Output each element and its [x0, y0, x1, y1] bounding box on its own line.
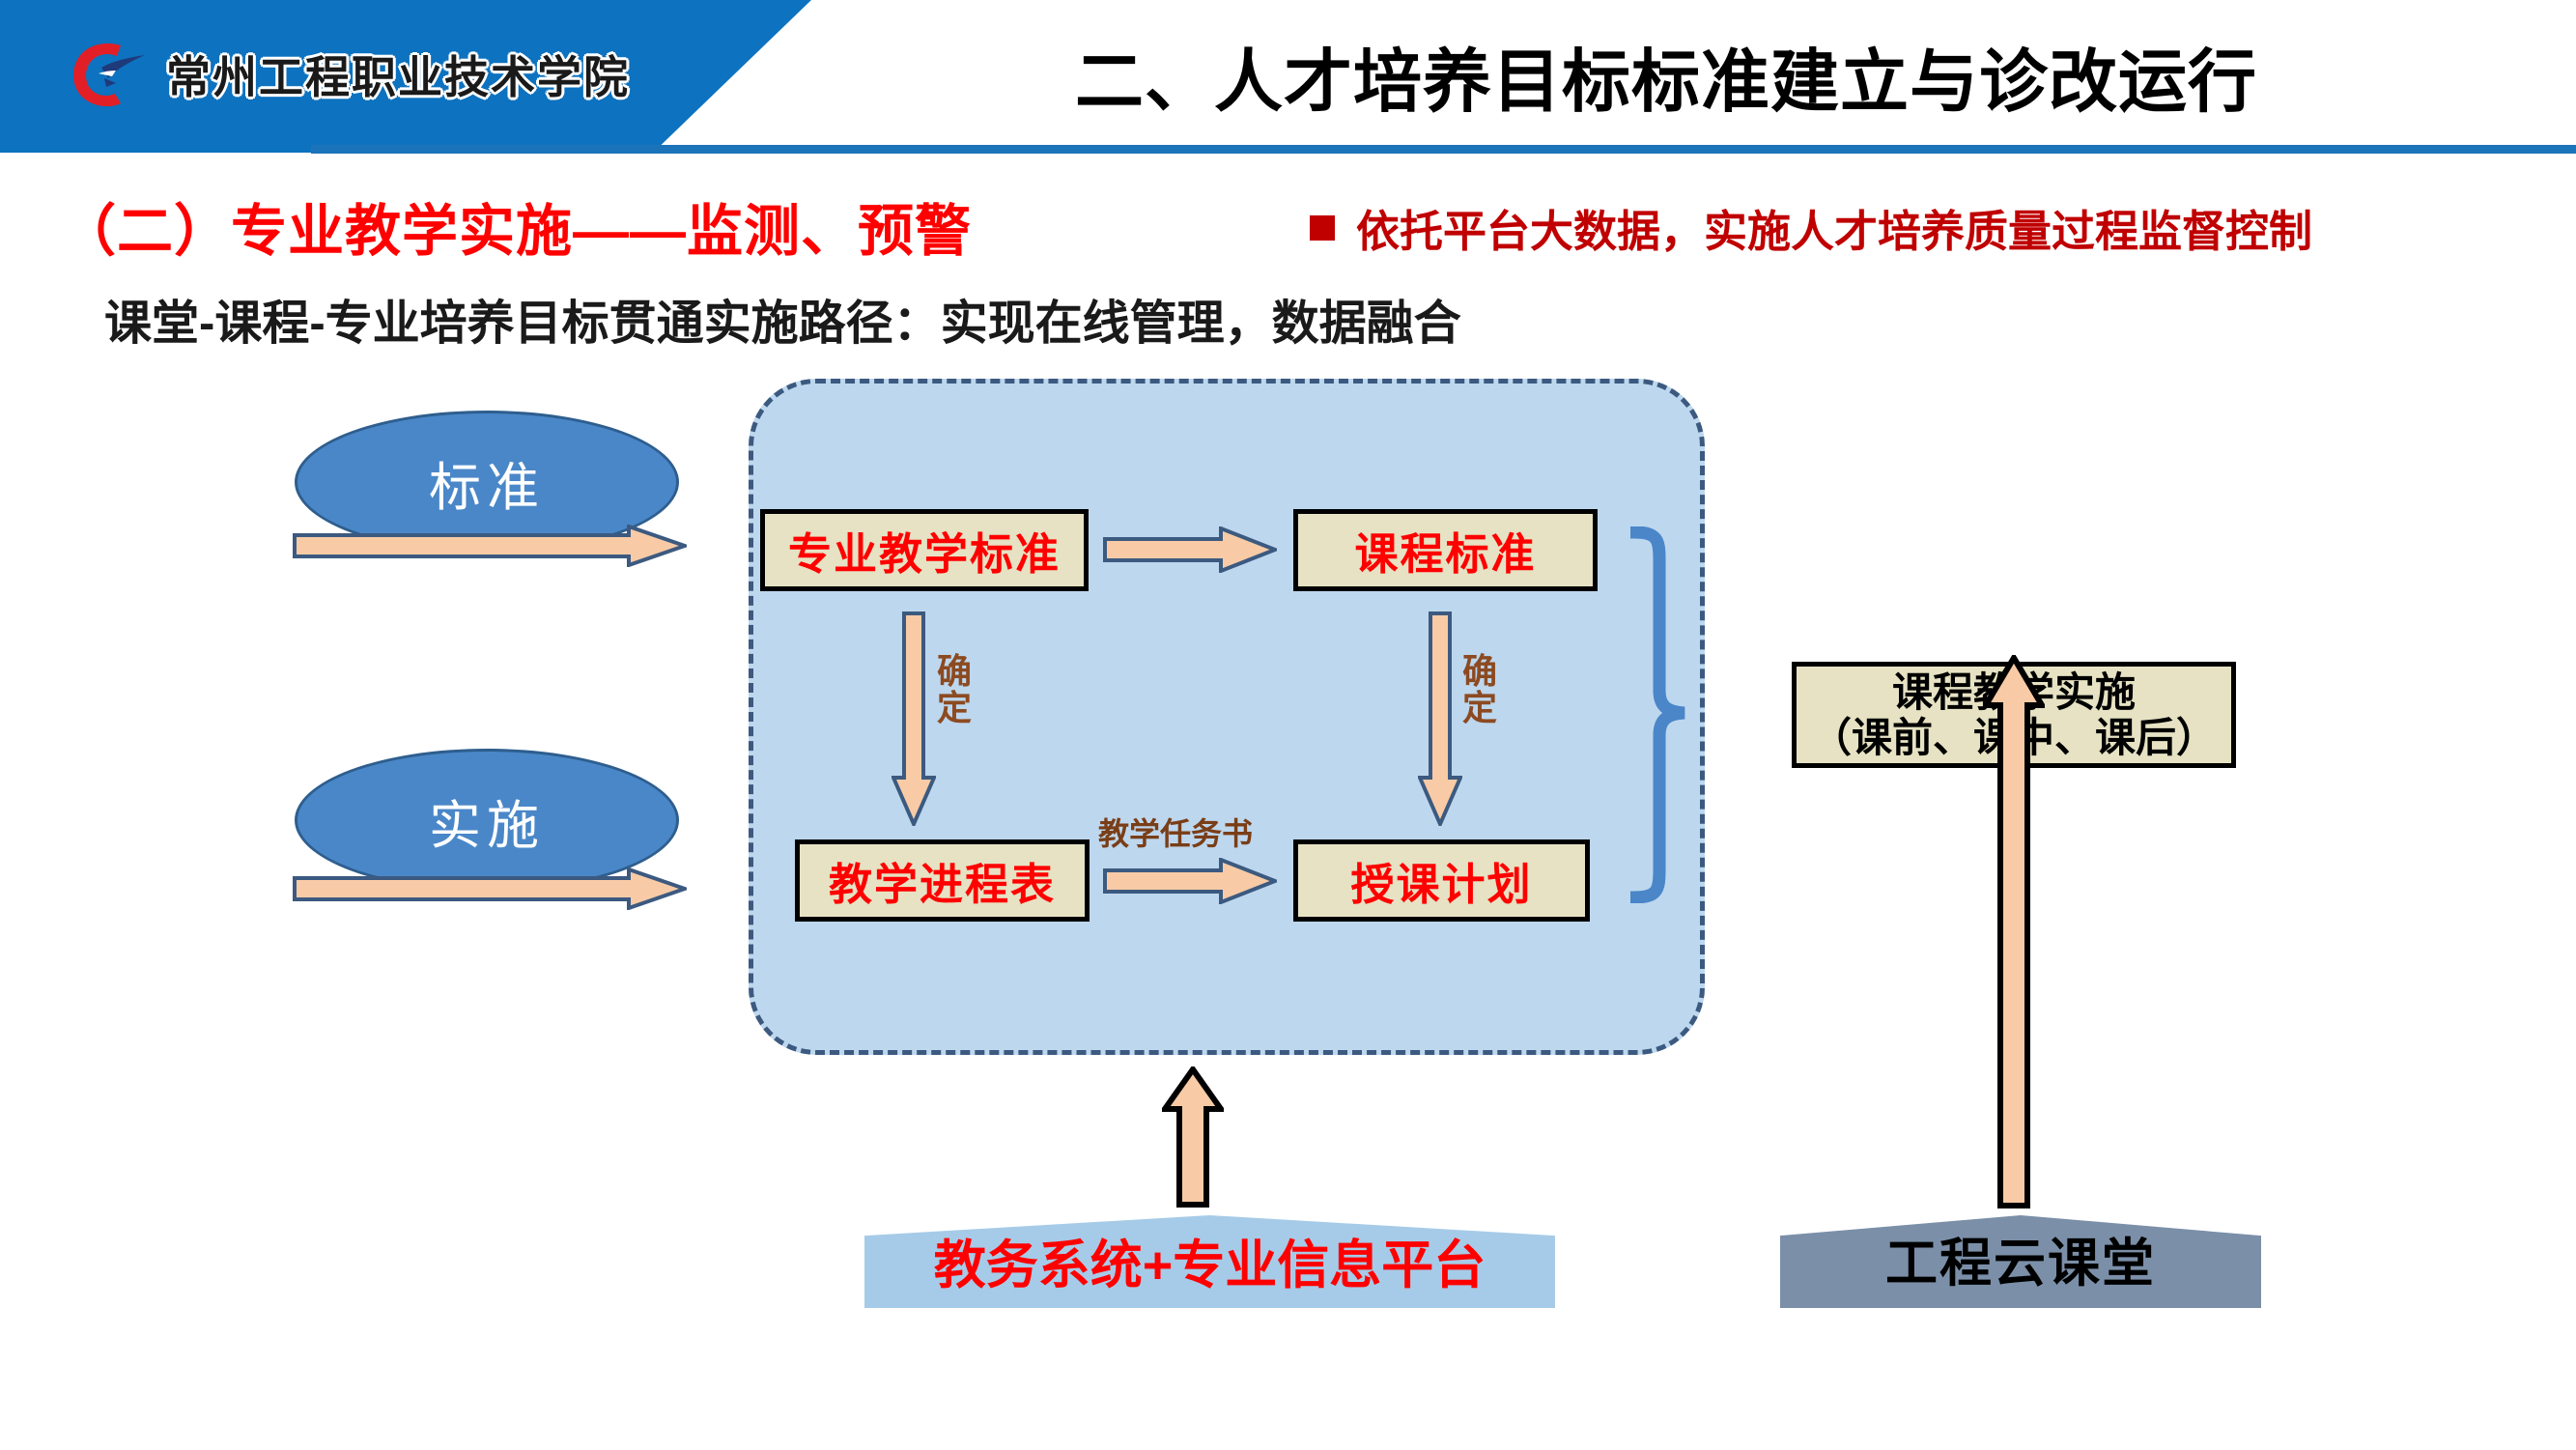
square-bullet-icon	[1310, 215, 1335, 241]
platform-banner-cloud-classroom: 工程云课堂	[1780, 1215, 2261, 1308]
platform-banner-cloud-classroom-label: 工程云课堂	[1885, 1220, 2156, 1308]
implementation-path-line: 课堂-课程-专业培养目标贯通实施路径：实现在线管理，数据融合	[104, 285, 1461, 354]
process-box-teaching-schedule: 教学进程表	[795, 839, 1090, 922]
arrow-label-determine-left: 确定	[935, 653, 974, 726]
platform-banner-academic-system-label: 教务系统+专业信息平台	[934, 1222, 1486, 1308]
arrow-platform-to-panel-icon	[1162, 1066, 1224, 1208]
arrow-schedule-to-plan-icon	[1103, 858, 1277, 904]
arrow-label-determine-right: 确定	[1460, 653, 1499, 726]
section-label: （二）专业教学实施——监测、预警	[60, 185, 972, 267]
feeder-arrow-implement-icon	[293, 867, 687, 910]
arrow-cloud-classroom-to-result-icon	[1983, 655, 2045, 1208]
page-title: 二、人才培养目标标准建立与诊改运行	[807, 27, 2526, 126]
header-rule-left	[311, 145, 697, 154]
platform-banner-academic-system: 教务系统+专业信息平台	[864, 1215, 1555, 1308]
arrow-major-to-schedule-icon	[892, 611, 936, 826]
slide-canvas: 常州工程职业技术学院 二、人才培养目标标准建立与诊改运行 （二）专业教学实施——…	[0, 0, 2576, 1450]
institution-name: 常州工程职业技术学院	[166, 43, 630, 106]
header-rule	[694, 145, 2576, 154]
process-box-course-standard: 课程标准	[1293, 509, 1598, 591]
grouping-brace-icon	[1630, 526, 1694, 903]
arrow-course-to-plan-icon	[1418, 611, 1462, 826]
swoosh-crest-icon	[70, 39, 153, 110]
bullet-point-text: 依托平台大数据，实施人才培养质量过程监督控制	[1356, 196, 2312, 259]
arrow-major-to-course-icon	[1103, 526, 1277, 573]
process-box-major-teaching-standard: 专业教学标准	[760, 509, 1089, 591]
arrow-label-teaching-task-book: 教学任务书	[1098, 810, 1253, 854]
bullet-point: 依托平台大数据，实施人才培养质量过程监督控制	[1310, 196, 2312, 259]
feeder-arrow-standard-icon	[293, 525, 687, 567]
institution-logo: 常州工程职业技术学院	[70, 39, 630, 110]
process-box-lesson-plan: 授课计划	[1293, 839, 1590, 922]
